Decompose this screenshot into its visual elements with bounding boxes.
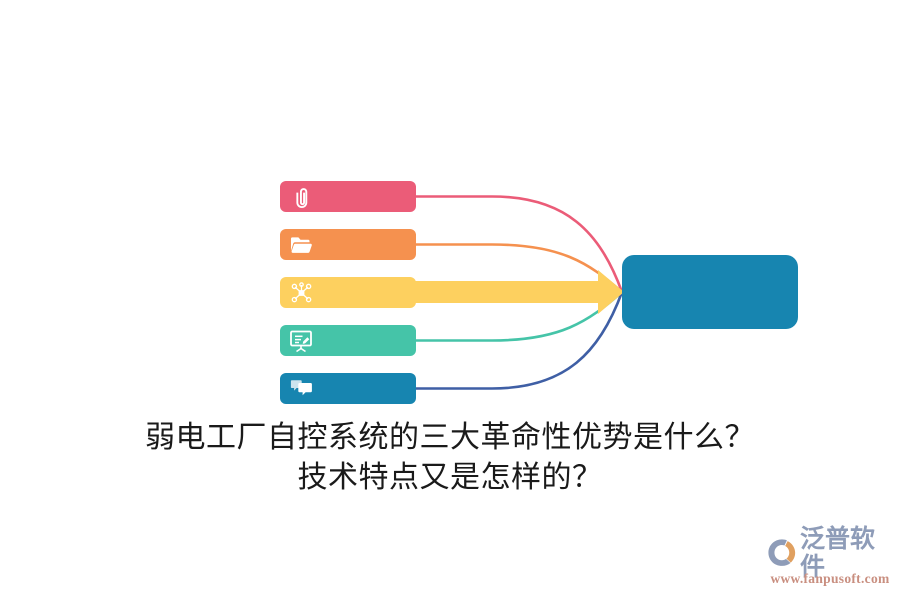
infographic-canvas: 弱电工厂自控系统的三大革命性优势是什么？ 技术特点又是怎样的？ 泛普软件 www… — [0, 0, 900, 600]
funnel-item-4[interactable] — [280, 325, 416, 356]
funnel-item-3[interactable] — [280, 277, 416, 308]
highlight-arrow — [414, 270, 624, 314]
funnel-item-4-bar[interactable] — [280, 325, 416, 356]
converging-funnel-diagram — [0, 0, 900, 420]
fanpu-logo-icon — [766, 537, 797, 568]
highlight-arrow-shaft — [414, 281, 600, 303]
caption-line-1: 弱电工厂自控系统的三大革命性优势是什么？ — [0, 418, 900, 458]
target-box[interactable] — [622, 255, 798, 329]
funnel-item-2[interactable] — [280, 229, 416, 260]
caption-text: 弱电工厂自控系统的三大革命性优势是什么？ 技术特点又是怎样的？ — [0, 418, 900, 498]
caption-line-2: 技术特点又是怎样的？ — [0, 458, 900, 498]
watermark-url: www.fanpusoft.com — [770, 571, 889, 587]
watermark: 泛普软件 www.fanpusoft.com — [766, 532, 894, 590]
funnel-item-1[interactable] — [280, 181, 416, 212]
watermark-brand-row: 泛普软件 — [766, 536, 894, 570]
highlight-arrow-head — [598, 270, 624, 314]
funnel-item-5[interactable] — [280, 373, 416, 404]
